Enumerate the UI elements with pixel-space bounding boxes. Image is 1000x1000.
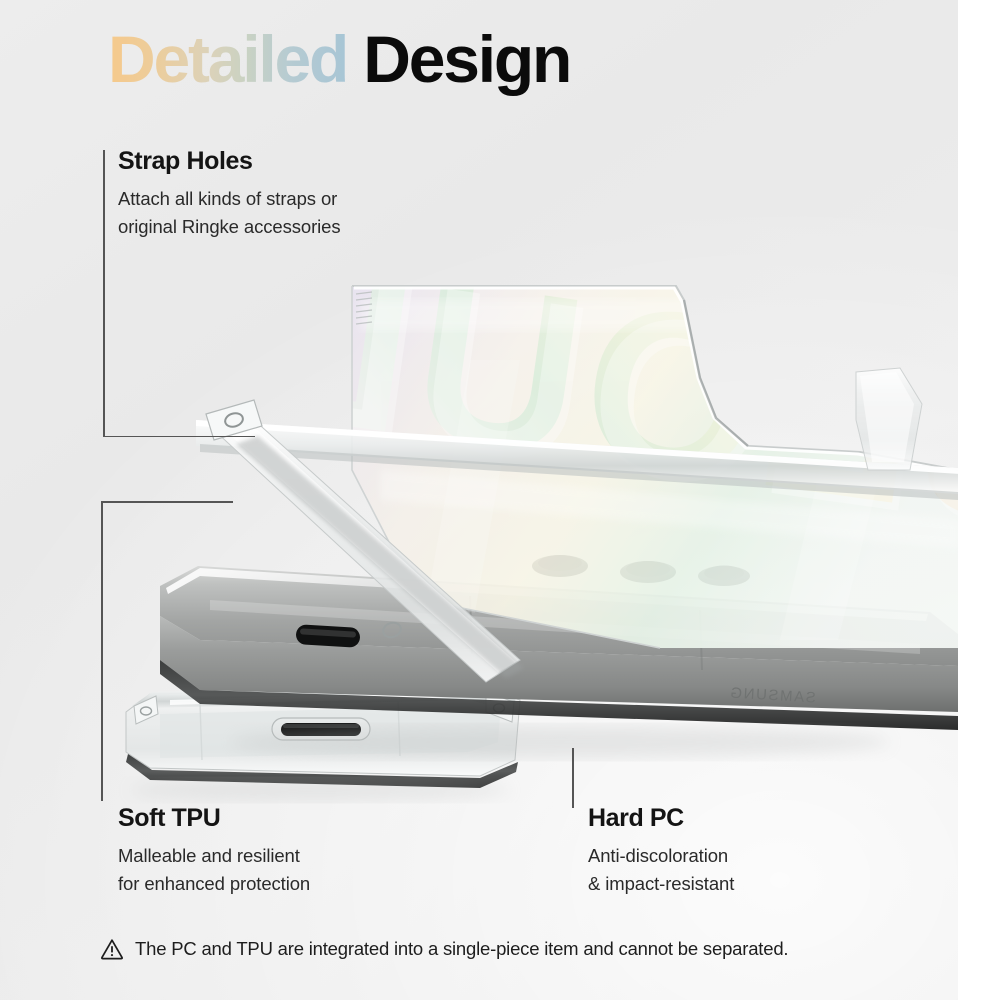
callout-soft-tpu-body: Malleable and resilient for enhanced pro…	[118, 842, 310, 898]
callout-soft-tpu: Soft TPU Malleable and resilient for enh…	[118, 805, 310, 898]
callout-soft-tpu-line-2: for enhanced protection	[118, 870, 310, 898]
leader-line-soft-tpu-horizontal	[101, 501, 233, 503]
disclaimer-text: The PC and TPU are integrated into a sin…	[135, 938, 788, 960]
callout-hard-pc-body: Anti-discoloration & impact-resistant	[588, 842, 734, 898]
title-gradient-word: Detailed	[108, 22, 347, 96]
leader-line-soft-tpu-vertical	[101, 501, 103, 801]
callout-hard-pc-line-1: Anti-discoloration	[588, 842, 734, 870]
callout-hard-pc-heading: Hard PC	[588, 805, 734, 833]
callout-strap-holes: Strap Holes Attach all kinds of straps o…	[118, 148, 341, 241]
right-white-margin	[958, 0, 1000, 1000]
callout-strap-holes-heading: Strap Holes	[118, 148, 341, 176]
warning-triangle-icon	[100, 938, 124, 960]
callout-hard-pc-line-2: & impact-resistant	[588, 870, 734, 898]
usb-c-port-device	[295, 624, 360, 648]
disclaimer-note: The PC and TPU are integrated into a sin…	[100, 938, 788, 960]
title-solid-word: Design	[363, 22, 570, 96]
leader-line-strap-holes-horizontal	[103, 436, 255, 438]
callout-strap-holes-line-2: original Ringke accessories	[118, 213, 341, 241]
product-feature-graphic: SAMSUNG SEOUL	[0, 0, 1000, 1000]
leader-line-strap-holes-vertical	[103, 150, 105, 437]
callout-soft-tpu-line-1: Malleable and resilient	[118, 842, 310, 870]
callout-strap-holes-body: Attach all kinds of straps or original R…	[118, 185, 341, 241]
callout-soft-tpu-heading: Soft TPU	[118, 805, 310, 833]
callout-strap-holes-line-1: Attach all kinds of straps or	[118, 185, 341, 213]
leader-line-hard-pc-vertical	[572, 748, 574, 808]
page-title: Detailed Design	[108, 26, 570, 92]
callout-hard-pc: Hard PC Anti-discoloration & impact-resi…	[588, 805, 734, 898]
